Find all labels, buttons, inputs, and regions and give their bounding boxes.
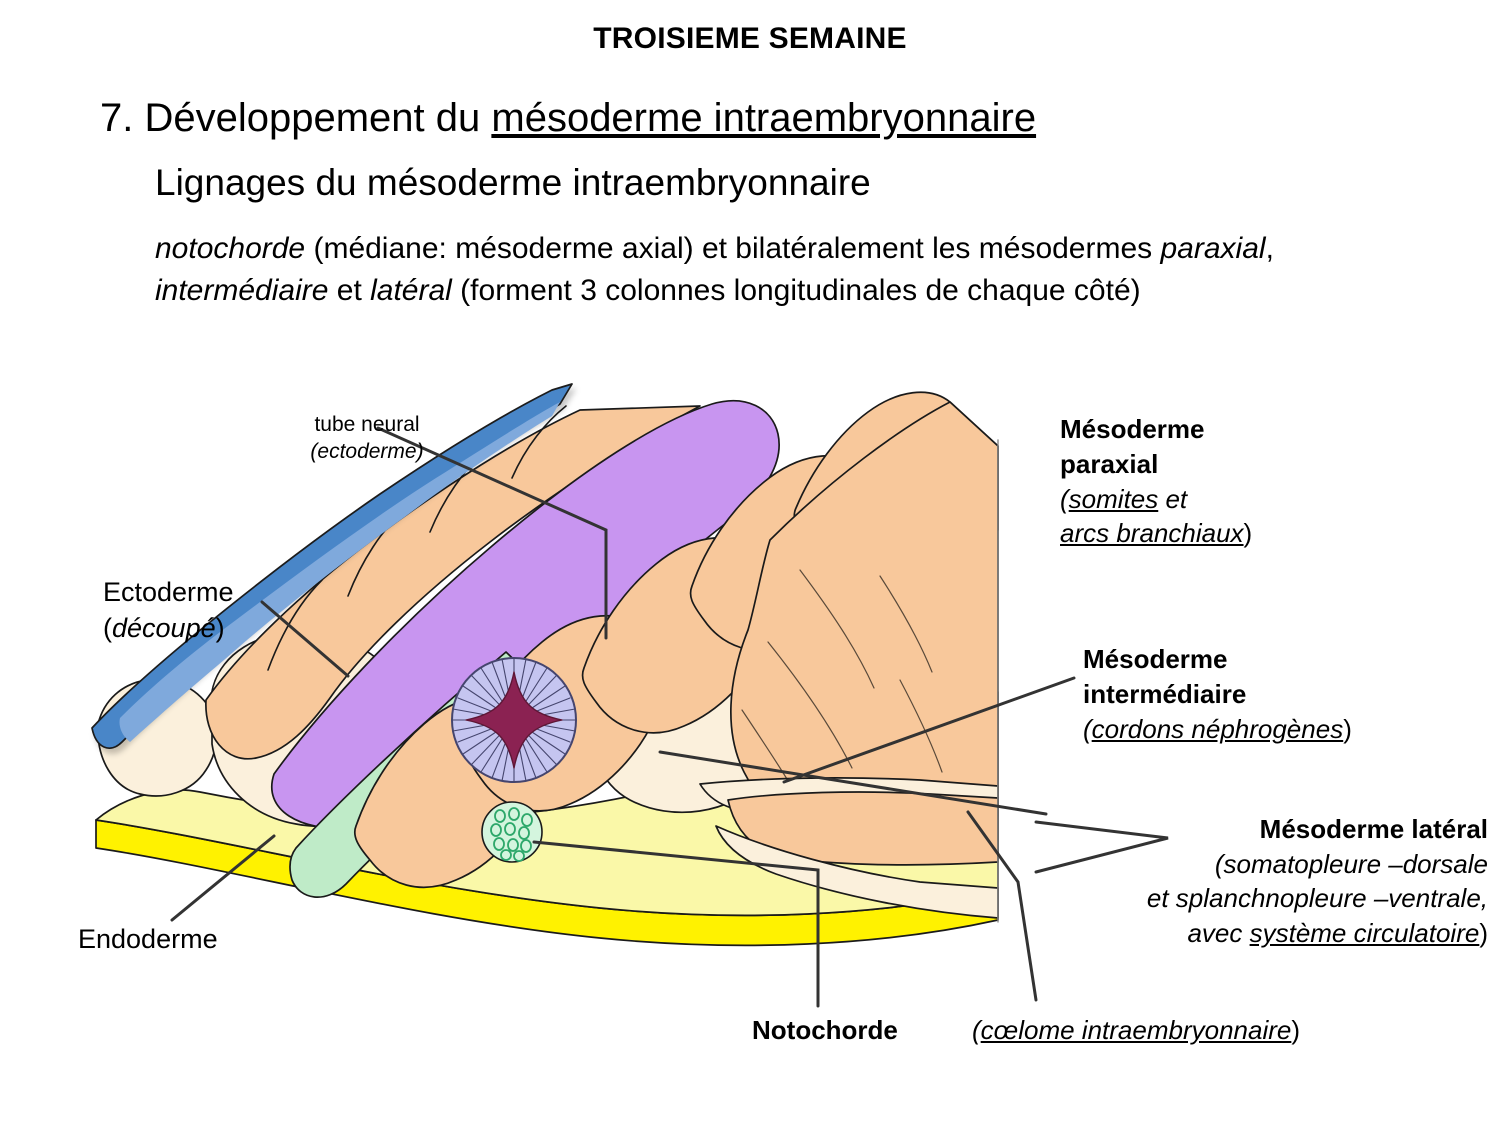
heading-prefix: 7. Développement du	[100, 96, 491, 140]
body-sep-a: ,	[1266, 232, 1274, 265]
label-lateral-line2: (somatopleure –dorsale	[1215, 849, 1488, 879]
label-notochorde: Notochorde	[752, 1014, 992, 1048]
label-coelome-paren-close: )	[1291, 1015, 1300, 1045]
label-paraxial-paren-close: )	[1244, 518, 1253, 548]
label-coelome-intraembryonnaire: (cœlome intraembryonnaire)	[972, 1014, 1392, 1048]
slide-title: TROISIEME SEMAINE	[0, 22, 1500, 56]
heading-underlined-term: mésoderme intraembryonnaire	[491, 96, 1036, 140]
label-ectoderme: Ectoderme(découpé)	[103, 575, 333, 646]
notochord-cross-section	[482, 802, 542, 862]
term-intermediaire: intermédiaire	[155, 274, 328, 307]
term-paraxial: paraxial	[1161, 232, 1266, 265]
label-intermediaire-line1: Mésoderme	[1083, 644, 1228, 674]
label-coelome-paren-open: (	[972, 1015, 981, 1045]
body-line-1-rest: (médiane: mésoderme axial) et bilatérale…	[305, 232, 1152, 265]
body-line-2-rest: (forment 3 colonnes longitudinales de	[452, 274, 959, 307]
label-lateral-systeme: système circulatoire	[1250, 918, 1480, 948]
label-tube-neural-line1: tube neural	[314, 413, 419, 436]
label-lateral-avec: avec	[1187, 918, 1249, 948]
label-ectoderme-paren-open: (	[103, 613, 112, 643]
label-ectoderme-decoupe: découpé	[112, 613, 216, 643]
label-lateral-line1: Mésoderme latéral	[1260, 814, 1488, 844]
label-tube-neural-line2: (ectoderme)	[310, 440, 423, 463]
label-lateral-paren-close: )	[1479, 918, 1488, 948]
label-ectoderme-paren-close: )	[216, 613, 225, 643]
label-ectoderme-line1: Ectoderme	[103, 577, 234, 607]
label-tube-neural: tube neural(ectoderme)	[247, 412, 487, 466]
label-paraxial-line2: paraxial	[1060, 449, 1158, 479]
label-coelome-term: cœlome intraembryonnaire	[981, 1015, 1292, 1045]
term-lateral: latéral	[370, 274, 452, 307]
label-intermediaire-paren-open: (	[1083, 714, 1092, 744]
label-paraxial-arcs: arcs branchiaux	[1060, 518, 1244, 548]
label-endoderme: Endoderme	[78, 922, 338, 957]
label-mesoderme-lateral: Mésoderme latéral(somatopleure –dorsalee…	[1040, 812, 1488, 950]
label-paraxial-somites: somites	[1069, 484, 1159, 514]
label-intermediaire-cordons: cordons néphrogènes	[1092, 714, 1344, 744]
body-line-3: chaque côté)	[967, 274, 1140, 307]
term-notochorde: notochorde	[155, 232, 305, 265]
label-mesoderme-paraxial: Mésodermeparaxial(somites etarcs branchi…	[1060, 412, 1390, 551]
label-endoderme-line1: Endoderme	[78, 924, 218, 954]
page-subheading: Lignages du mésoderme intraembryonnaire	[155, 162, 1455, 205]
page-heading-numbered: 7. Développement du mésoderme intraembry…	[100, 95, 1400, 141]
label-intermediaire-paren-close: )	[1343, 714, 1352, 744]
label-intermediaire-line2: intermédiaire	[1083, 679, 1246, 709]
label-paraxial-line1: Mésoderme	[1060, 414, 1205, 444]
body-sep-b: et	[328, 274, 370, 307]
label-lateral-line3: et splanchnopleure –ventrale,	[1147, 883, 1488, 913]
body-paragraph: notochorde (médiane: mésoderme axial) et…	[155, 228, 1445, 311]
label-notochorde-line1: Notochorde	[752, 1015, 898, 1045]
label-mesoderme-intermediaire: Mésodermeintermédiaire(cordons néphrogèn…	[1083, 642, 1423, 746]
neural-tube-cross-section	[452, 658, 576, 782]
label-paraxial-paren-open: (	[1060, 484, 1069, 514]
label-paraxial-et: et	[1158, 484, 1187, 514]
